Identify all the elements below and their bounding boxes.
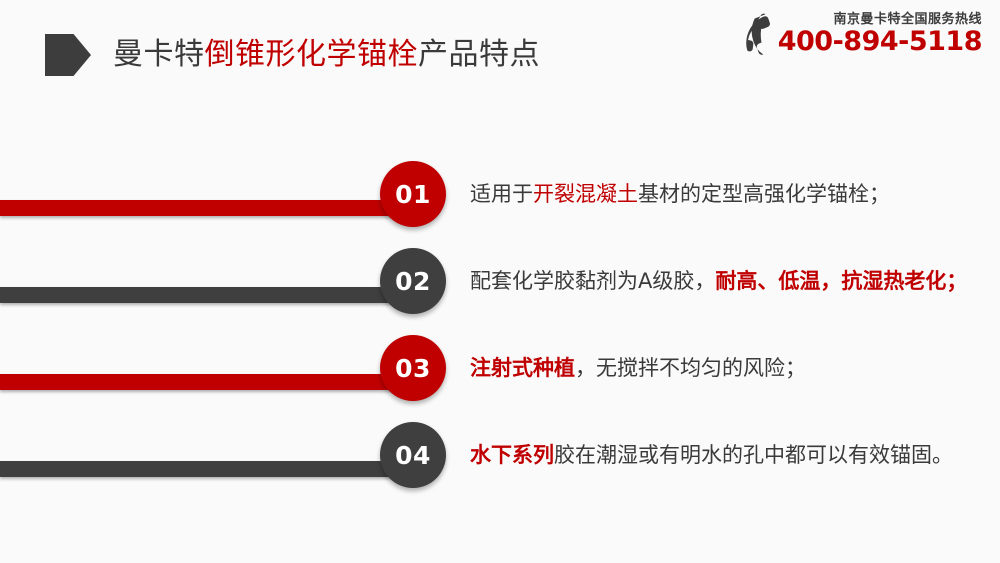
feature-text: 注射式种植，无搅拌不均匀的风险；: [470, 350, 806, 386]
slide-root: 曼卡特倒锥形化学锚栓产品特点 南京曼卡特全国服务热线 400-894-5118 …: [0, 0, 1000, 563]
feature-number-badge: 02: [380, 248, 446, 314]
arrow-marker-icon: [45, 34, 91, 76]
feature-text-segment-highlight: 耐高、低温，抗湿热老化；: [715, 269, 967, 293]
feature-row: 02 配套化学胶黏剂为A级胶，耐高、低温，抗湿热老化；: [0, 247, 1000, 334]
page-title-group: 曼卡特倒锥形化学锚栓产品特点: [45, 34, 540, 76]
feature-text: 适用于开裂混凝土基材的定型高强化学锚栓；: [470, 176, 890, 212]
feature-text-segment: 配套化学胶黏剂为A级胶，: [470, 269, 715, 293]
feature-text: 配套化学胶黏剂为A级胶，耐高、低温，抗湿热老化；: [470, 263, 967, 299]
feature-number-badge: 03: [380, 335, 446, 401]
feature-text-segment-highlight: 开裂混凝土: [533, 182, 638, 206]
page-title-part-1: 曼卡特: [113, 37, 205, 72]
feature-bar: [0, 200, 412, 216]
phone-handset-icon: [745, 12, 771, 58]
slide-header: 曼卡特倒锥形化学锚栓产品特点 南京曼卡特全国服务热线 400-894-5118: [0, 0, 1000, 100]
page-title: 曼卡特倒锥形化学锚栓产品特点: [113, 40, 540, 70]
feature-text-segment: 基材的定型高强化学锚栓；: [638, 182, 890, 206]
hotline-number: 400-894-5118: [778, 28, 982, 56]
feature-bar: [0, 461, 412, 477]
feature-row: 04 水下系列胶在潮湿或有明水的孔中都可以有效锚固。: [0, 421, 1000, 508]
feature-text: 水下系列胶在潮湿或有明水的孔中都可以有效锚固。: [470, 437, 953, 473]
feature-text-segment: ，无搅拌不均匀的风险；: [575, 356, 806, 380]
feature-text-segment-highlight: 注射式种植: [470, 356, 575, 380]
feature-number-badge: 01: [380, 161, 446, 227]
hotline-text-group: 南京曼卡特全国服务热线 400-894-5118: [778, 13, 982, 56]
feature-number-badge: 04: [380, 422, 446, 488]
feature-bar: [0, 374, 412, 390]
feature-row: 03 注射式种植，无搅拌不均匀的风险；: [0, 334, 1000, 421]
feature-row: 01 适用于开裂混凝土基材的定型高强化学锚栓；: [0, 160, 1000, 247]
page-title-part-2: 倒锥形化学锚栓: [205, 37, 419, 72]
feature-bar: [0, 287, 412, 303]
feature-list: 01 适用于开裂混凝土基材的定型高强化学锚栓； 02 配套化学胶黏剂为A级胶，耐…: [0, 160, 1000, 508]
hotline-block: 南京曼卡特全国服务热线 400-894-5118: [745, 12, 982, 58]
feature-text-segment: 适用于: [470, 182, 533, 206]
feature-text-segment: 胶在潮湿或有明水的孔中都可以有效锚固。: [554, 443, 953, 467]
feature-text-segment-highlight: 水下系列: [470, 443, 554, 467]
page-title-part-3: 产品特点: [418, 37, 540, 72]
